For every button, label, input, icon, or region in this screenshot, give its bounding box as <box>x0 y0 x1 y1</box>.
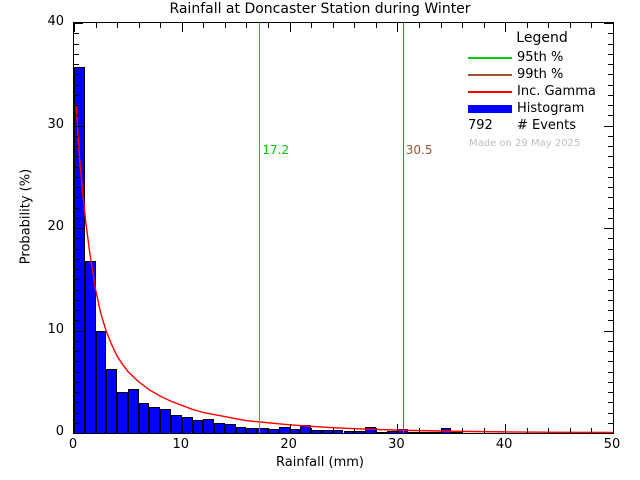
y-tick <box>74 341 79 342</box>
legend-entry-label: Inc. Gamma <box>514 84 596 99</box>
x-tick <box>117 428 118 433</box>
x-tick-top <box>290 23 291 32</box>
x-tick-top <box>203 23 204 28</box>
y-tick <box>74 361 79 362</box>
y-tick-label: 40 <box>24 14 64 29</box>
x-tick <box>484 428 485 433</box>
y-tick-right <box>608 269 613 270</box>
chart-root: Rainfall at Doncaster Station during Win… <box>0 0 640 480</box>
x-tick-top <box>333 23 334 28</box>
histogram-bar <box>160 409 171 433</box>
y-tick-right <box>604 23 613 24</box>
histogram-bar <box>225 424 236 433</box>
y-tick <box>74 115 79 116</box>
histogram-bar <box>430 432 441 433</box>
x-tick <box>160 428 161 433</box>
x-tick <box>268 428 269 433</box>
y-tick-right <box>608 85 613 86</box>
histogram-bar <box>268 429 279 433</box>
legend-events-count: 792 <box>466 118 514 133</box>
y-tick <box>74 413 79 414</box>
x-tick <box>96 428 97 433</box>
percentile-line-label-17.2: 17.2 <box>262 143 289 157</box>
histogram-bar <box>290 429 301 433</box>
y-tick <box>74 126 83 127</box>
x-tick <box>462 428 463 433</box>
y-tick <box>74 85 79 86</box>
legend-key-line <box>466 68 514 82</box>
legend-entries: 95th %99th %Inc. GammaHistogram <box>466 49 608 117</box>
percentile-line-17.2 <box>259 23 260 433</box>
histogram-bar <box>203 419 214 433</box>
y-tick-right <box>608 187 613 188</box>
y-tick <box>74 331 83 332</box>
x-tick <box>74 424 75 433</box>
y-tick <box>74 197 79 198</box>
histogram-bar <box>139 403 150 433</box>
x-tick-top <box>311 23 312 28</box>
x-tick-top <box>117 23 118 28</box>
x-tick-top <box>441 23 442 28</box>
x-tick-top <box>268 23 269 28</box>
legend-entry-label: 95th % <box>514 50 563 65</box>
y-tick-right <box>608 392 613 393</box>
histogram-bar <box>193 420 204 433</box>
y-tick <box>74 23 83 24</box>
y-tick-right <box>608 208 613 209</box>
x-tick <box>311 428 312 433</box>
histogram-bar <box>117 392 128 433</box>
x-tick-label: 50 <box>592 437 632 452</box>
x-tick-top <box>182 23 183 32</box>
y-tick <box>74 269 79 270</box>
y-tick-right <box>608 290 613 291</box>
y-tick <box>74 95 79 96</box>
histogram-bar <box>85 261 96 433</box>
y-tick <box>74 310 79 311</box>
y-tick <box>74 44 79 45</box>
x-tick <box>591 428 592 433</box>
y-tick <box>74 238 79 239</box>
y-tick <box>74 136 79 137</box>
x-tick <box>419 428 420 433</box>
y-tick-right <box>608 341 613 342</box>
x-tick <box>548 428 549 433</box>
legend-title: Legend <box>466 30 608 46</box>
y-tick <box>74 249 79 250</box>
histogram-bar <box>279 427 290 433</box>
histogram-bar <box>149 407 160 433</box>
x-tick-top <box>570 23 571 28</box>
y-tick-right <box>608 279 613 280</box>
chart-title: Rainfall at Doncaster Station during Win… <box>0 1 640 17</box>
x-tick-top <box>160 23 161 28</box>
y-tick-right <box>608 218 613 219</box>
y-tick-right <box>608 197 613 198</box>
y-tick <box>74 372 79 373</box>
y-tick-right <box>608 177 613 178</box>
x-tick-label: 0 <box>53 437 93 452</box>
y-tick-right <box>608 259 613 260</box>
x-tick <box>225 428 226 433</box>
legend-key-line <box>466 85 514 99</box>
x-tick-top <box>527 23 528 28</box>
x-tick-top <box>376 23 377 28</box>
y-tick <box>74 218 79 219</box>
y-tick <box>74 33 79 34</box>
y-tick-right <box>608 64 613 65</box>
histogram-bar <box>236 427 247 433</box>
y-tick <box>74 279 79 280</box>
legend-entry: Inc. Gamma <box>466 83 608 100</box>
y-tick-right <box>604 433 613 434</box>
y-tick-right <box>608 351 613 352</box>
y-tick <box>74 423 79 424</box>
y-tick-right <box>608 238 613 239</box>
legend: Legend 95th %99th %Inc. GammaHistogram 7… <box>466 30 608 149</box>
y-tick <box>74 105 79 106</box>
y-tick <box>74 74 79 75</box>
x-tick <box>527 428 528 433</box>
histogram-bar <box>171 415 182 433</box>
x-tick-label: 20 <box>269 437 309 452</box>
y-tick-right <box>608 44 613 45</box>
y-tick-right <box>608 54 613 55</box>
y-tick <box>74 187 79 188</box>
y-tick-right <box>608 136 613 137</box>
histogram-bar <box>333 430 344 433</box>
x-tick <box>182 424 183 433</box>
histogram-bar <box>344 431 355 433</box>
y-tick <box>74 167 79 168</box>
y-tick-right <box>608 361 613 362</box>
y-tick-label: 0 <box>24 424 64 439</box>
legend-entry-label: Histogram <box>514 101 584 116</box>
x-tick-label: 40 <box>484 437 524 452</box>
legend-line <box>468 57 512 59</box>
y-tick <box>74 208 79 209</box>
x-tick <box>139 428 140 433</box>
x-tick <box>397 424 398 433</box>
y-tick <box>74 54 79 55</box>
legend-line <box>468 91 512 93</box>
x-tick-top <box>74 23 75 32</box>
y-tick <box>74 402 79 403</box>
y-tick-right <box>608 300 613 301</box>
legend-entry: 99th % <box>466 66 608 83</box>
histogram-bar <box>354 431 365 433</box>
y-tick <box>74 433 83 434</box>
histogram-bar <box>408 432 419 433</box>
y-tick-right <box>604 331 613 332</box>
legend-line <box>468 74 512 76</box>
legend-events-label: # Events <box>514 118 576 133</box>
y-tick-right <box>608 413 613 414</box>
y-tick-right <box>608 146 613 147</box>
x-axis-title: Rainfall (mm) <box>0 455 640 470</box>
x-tick <box>376 428 377 433</box>
histogram-bar <box>419 432 430 433</box>
y-tick <box>74 259 79 260</box>
legend-events-row: 792 # Events <box>466 117 608 134</box>
histogram-bar <box>246 428 257 433</box>
x-tick-top <box>419 23 420 28</box>
legend-key-swatch <box>466 102 514 116</box>
legend-swatch <box>468 105 512 113</box>
x-tick <box>290 424 291 433</box>
histogram-bar <box>96 331 107 434</box>
y-tick <box>74 290 79 291</box>
x-tick-top <box>613 23 614 32</box>
x-tick <box>570 428 571 433</box>
y-tick-right <box>608 249 613 250</box>
y-tick-right <box>608 382 613 383</box>
y-tick-right <box>604 228 613 229</box>
legend-entry: 95th % <box>466 49 608 66</box>
x-tick <box>441 428 442 433</box>
y-tick-right <box>608 320 613 321</box>
x-tick-top <box>246 23 247 28</box>
y-tick-right <box>608 310 613 311</box>
histogram-bar <box>387 431 398 433</box>
x-tick <box>505 424 506 433</box>
x-tick <box>613 424 614 433</box>
x-tick <box>203 428 204 433</box>
y-tick <box>74 177 79 178</box>
y-tick <box>74 64 79 65</box>
y-tick-right <box>608 95 613 96</box>
histogram-bar <box>300 425 311 433</box>
histogram-bar <box>74 67 85 433</box>
histogram-bar <box>441 428 452 433</box>
y-tick <box>74 320 79 321</box>
legend-footer-timestamp: Made on 29 May 2025 <box>466 138 608 149</box>
y-tick-right <box>608 372 613 373</box>
percentile-line-label-30.5: 30.5 <box>406 143 433 157</box>
x-tick <box>333 428 334 433</box>
histogram-bar <box>322 430 333 433</box>
histogram-bar <box>376 432 387 433</box>
histogram-bar <box>214 423 225 433</box>
x-tick-top <box>139 23 140 28</box>
x-tick <box>246 428 247 433</box>
y-tick-right <box>608 115 613 116</box>
x-tick-top <box>548 23 549 28</box>
y-tick-right <box>608 105 613 106</box>
y-tick <box>74 156 79 157</box>
y-tick-right <box>608 423 613 424</box>
histogram-bar <box>182 417 193 433</box>
histogram-bar <box>128 389 139 433</box>
y-tick <box>74 392 79 393</box>
y-tick-right <box>608 74 613 75</box>
percentile-line-30.5 <box>403 23 404 433</box>
histogram-bar <box>365 427 376 433</box>
y-tick <box>74 146 79 147</box>
x-tick-top <box>397 23 398 32</box>
x-tick-top <box>225 23 226 28</box>
x-tick-top <box>591 23 592 28</box>
y-tick-right <box>608 33 613 34</box>
x-tick-label: 30 <box>376 437 416 452</box>
legend-entry: Histogram <box>466 100 608 117</box>
x-tick <box>354 428 355 433</box>
x-tick-top <box>462 23 463 28</box>
x-tick-top <box>484 23 485 28</box>
x-tick-top <box>96 23 97 28</box>
y-axis-title: Probability (%) <box>19 97 34 337</box>
legend-key-line <box>466 51 514 65</box>
histogram-bar <box>311 430 322 433</box>
y-tick <box>74 300 79 301</box>
y-tick-right <box>608 156 613 157</box>
legend-entry-label: 99th % <box>514 67 563 82</box>
histogram-bar <box>451 432 462 433</box>
x-tick-top <box>354 23 355 28</box>
y-tick-right <box>608 167 613 168</box>
y-tick <box>74 228 83 229</box>
y-tick <box>74 382 79 383</box>
y-tick <box>74 351 79 352</box>
y-tick-right <box>608 402 613 403</box>
histogram-bar <box>106 369 117 433</box>
x-tick-label: 10 <box>161 437 201 452</box>
